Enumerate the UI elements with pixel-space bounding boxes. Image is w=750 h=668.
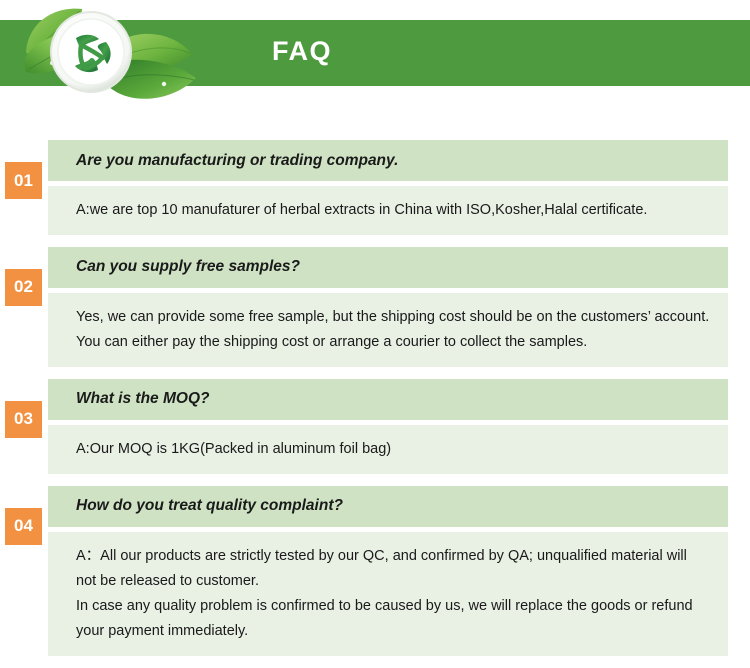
faq-number-badge-01: 01: [5, 162, 42, 199]
page-title: FAQ: [272, 38, 332, 65]
faq-number-badge-04: 04: [5, 508, 42, 545]
faq-item-03: 03 What is the MOQ? A:Our MOQ is 1KG(Pac…: [0, 379, 750, 474]
faq-answer-line: A:Our MOQ is 1KG(Packed in aluminum foil…: [76, 437, 710, 462]
faq-number-badge-02: 02: [5, 269, 42, 306]
faq-question-04[interactable]: How do you treat quality complaint?: [48, 486, 728, 527]
faq-qa-block-03: What is the MOQ? A:Our MOQ is 1KG(Packed…: [48, 379, 728, 474]
faq-qa-block-04: How do you treat quality complaint? A：Al…: [48, 486, 728, 656]
faq-item-04: 04 How do you treat quality complaint? A…: [0, 486, 750, 656]
faq-answer-01: A:we are top 10 manufaturer of herbal ex…: [48, 186, 728, 235]
faq-answer-03: A:Our MOQ is 1KG(Packed in aluminum foil…: [48, 425, 728, 474]
faq-answer-line: In case any quality problem is confirmed…: [76, 594, 710, 644]
faq-question-02[interactable]: Can you supply free samples?: [48, 247, 728, 288]
faq-answer-line: A:we are top 10 manufaturer of herbal ex…: [76, 198, 710, 223]
faq-qa-block-02: Can you supply free samples? Yes, we can…: [48, 247, 728, 367]
faq-item-01: 01 Are you manufacturing or trading comp…: [0, 140, 750, 235]
faq-answer-line: A：All our products are strictly tested b…: [76, 544, 710, 594]
faq-qa-block-01: Are you manufacturing or trading company…: [48, 140, 728, 235]
leaf-logo-icon: [18, 0, 218, 112]
faq-question-03[interactable]: What is the MOQ?: [48, 379, 728, 420]
company-logo: [18, 0, 218, 112]
faq-answer-02: Yes, we can provide some free sample, bu…: [48, 293, 728, 367]
faq-list: 01 Are you manufacturing or trading comp…: [0, 140, 750, 668]
faq-item-02: 02 Can you supply free samples? Yes, we …: [0, 247, 750, 367]
faq-number-badge-03: 03: [5, 401, 42, 438]
faq-answer-line: Yes, we can provide some free sample, bu…: [76, 305, 710, 355]
faq-question-01[interactable]: Are you manufacturing or trading company…: [48, 140, 728, 181]
faq-answer-04: A：All our products are strictly tested b…: [48, 532, 728, 656]
